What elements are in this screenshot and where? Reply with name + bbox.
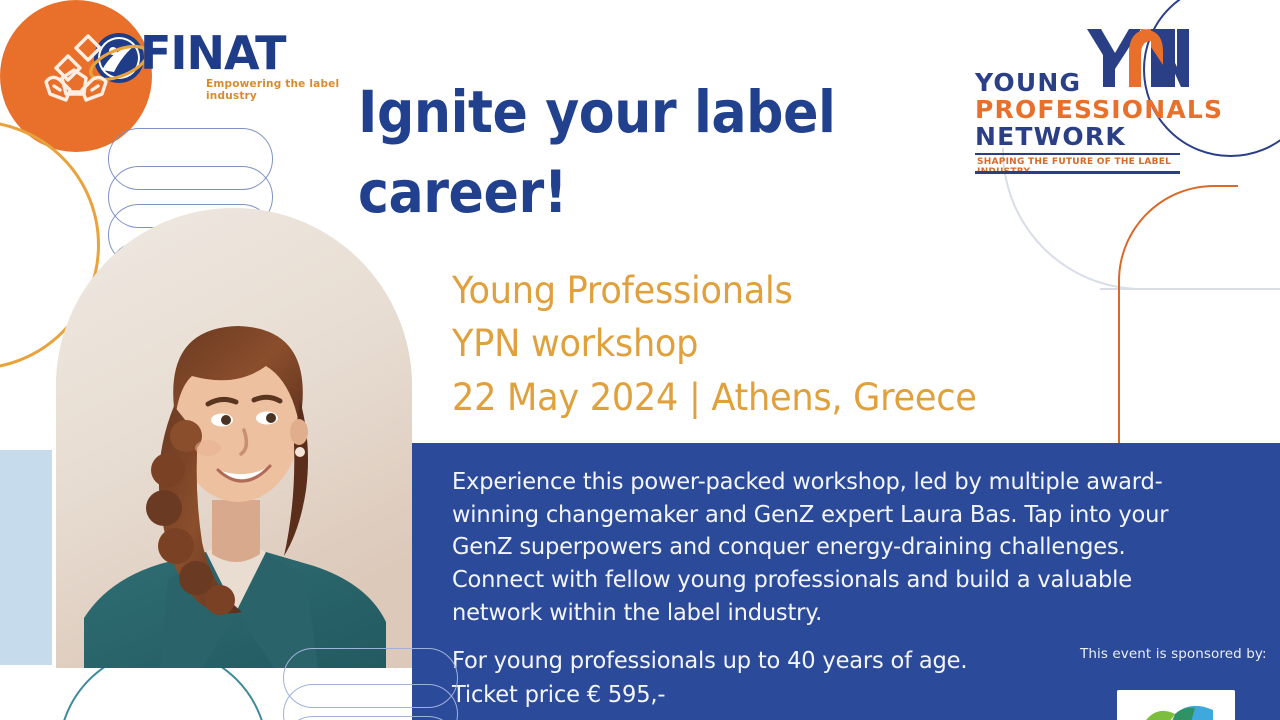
ypn-monogram-icon [1085, 25, 1190, 103]
finat-tagline: Empowering the label industry [206, 78, 368, 102]
sponsor-label: This event is sponsored by: [1080, 646, 1280, 662]
sponsor-logo-icon [1117, 690, 1235, 720]
ypn-tagline: SHAPING THE FUTURE OF THE LABEL INDUSTRY [977, 157, 1182, 177]
subtitle-line-2: YPN workshop [452, 317, 1060, 370]
ypn-line-young: YOUNG [975, 70, 1081, 96]
subtitle-line-3: 22 May 2024 | Athens, Greece [452, 371, 1060, 424]
subtitle-line-1: Young Professionals [452, 264, 1060, 317]
ypn-line-network: NETWORK [975, 124, 1126, 150]
eligibility-and-price: For young professionals up to 40 years o… [452, 644, 1124, 712]
ypn-logo: YOUNG PROFESSIONALS NETWORK SHAPING THE … [975, 25, 1190, 175]
blue-pill-decoration [108, 128, 273, 190]
ypn-divider-bottom [975, 171, 1180, 174]
handshake-teamwork-icon [26, 18, 126, 118]
ypn-divider-top [975, 153, 1180, 155]
light-blue-block-decoration [0, 450, 52, 665]
event-subtitle: Young Professionals YPN workshop 22 May … [452, 264, 1060, 424]
finat-wordmark: FINAT [140, 30, 285, 76]
ypn-line-professionals: PROFESSIONALS [975, 97, 1223, 123]
workshop-description: Experience this power-packed workshop, l… [452, 465, 1184, 628]
speaker-portrait [56, 208, 412, 668]
eligibility-text: For young professionals up to 40 years o… [452, 644, 1124, 678]
ticket-price-text: Ticket price € 595,- [452, 678, 1124, 712]
gray-rule-decoration [1100, 288, 1280, 290]
portrait-illustration [56, 208, 412, 668]
poster-canvas: FINAT Empowering the label industry YOUN… [0, 0, 1280, 720]
description-panel: Experience this power-packed workshop, l… [412, 443, 1280, 720]
sponsor-logo [1117, 690, 1235, 720]
orange-curve-decoration [1118, 185, 1238, 443]
page-title: Ignite your label career! [358, 72, 862, 232]
